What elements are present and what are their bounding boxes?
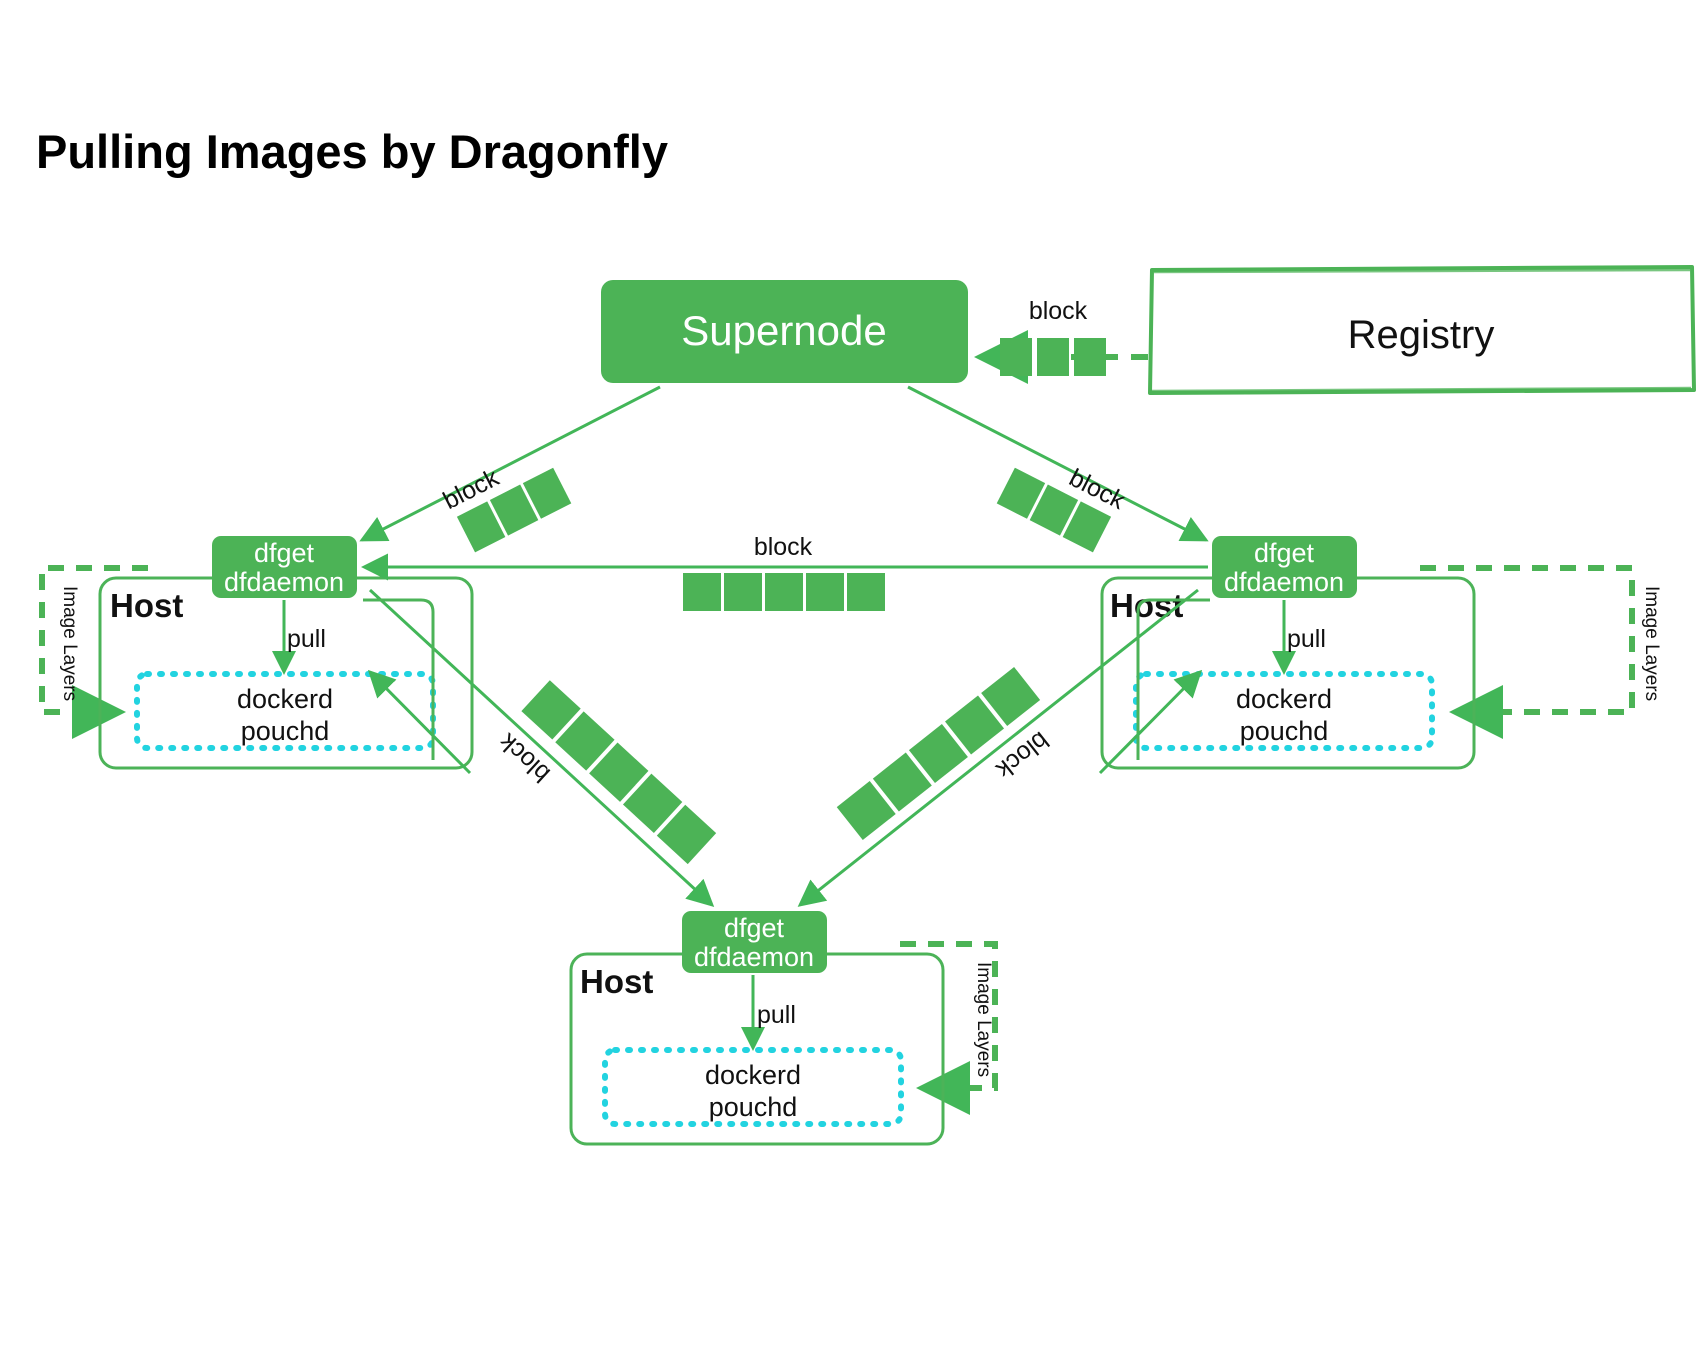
- dockerd-label-right-line1: dockerd: [1236, 684, 1332, 714]
- edge-label-block: block: [990, 726, 1054, 784]
- dockerd-label-left-line2: pouchd: [241, 716, 330, 746]
- block-square: [765, 573, 803, 611]
- block-square: [724, 573, 762, 611]
- block-square: [806, 573, 844, 611]
- edge-label-pull: pull: [287, 625, 326, 653]
- edge-pull-right: pull: [1284, 600, 1326, 672]
- dfget-label-left-line1: dfget: [254, 538, 315, 568]
- block-square: [1037, 338, 1069, 376]
- edge-line: [370, 672, 470, 773]
- host-label-left: Host: [110, 587, 183, 624]
- image-layers-right: Image Layers: [1420, 568, 1662, 712]
- image-layers-bottom: Image Layers: [900, 944, 995, 1088]
- registry-label: Registry: [1348, 313, 1495, 357]
- dockerd-label-left-line1: dockerd: [237, 684, 333, 714]
- block-square: [847, 573, 885, 611]
- image-layers-bracket: [1420, 568, 1632, 712]
- edge-line: [1100, 672, 1200, 773]
- edge-supernode-to-left-daemon: block: [362, 387, 660, 554]
- edge-bottom-to-left-daemon-arrowhead: [363, 600, 433, 760]
- edge-label-pull: pull: [1287, 625, 1326, 653]
- dfget-label-bottom-line2: dfdaemon: [694, 942, 814, 972]
- dockerd-label-bottom-line2: pouchd: [709, 1092, 798, 1122]
- dfget-label-left-line2: dfdaemon: [224, 567, 344, 597]
- edge-supernode-to-right-daemon: block: [908, 387, 1206, 555]
- host-label-bottom: Host: [580, 963, 653, 1000]
- edge-label-block: block: [1065, 464, 1130, 516]
- edge-bottom-to-right-daemon-connector: [1138, 600, 1210, 760]
- host-connector-left: [363, 600, 433, 760]
- edge-label-block: block: [493, 727, 555, 787]
- image-layers-label: Image Layers: [973, 962, 994, 1077]
- edge-pull-bottom: pull: [753, 975, 796, 1048]
- dockerd-label-bottom-line1: dockerd: [705, 1060, 801, 1090]
- image-layers-label: Image Layers: [1641, 586, 1662, 701]
- edge-registry-to-supernode: block: [980, 297, 1148, 376]
- image-layers-label: Image Layers: [59, 586, 80, 701]
- host-label-right: Host: [1110, 587, 1183, 624]
- host-connector-right: [1138, 600, 1210, 760]
- edge-label-pull: pull: [757, 1001, 796, 1029]
- dfget-label-right-line1: dfget: [1254, 538, 1315, 568]
- edge-label-block: block: [1029, 297, 1088, 325]
- edge-right-dockerd-to-daemon: [1100, 672, 1200, 773]
- block-square: [1000, 338, 1032, 376]
- dfget-label-bottom-line1: dfget: [724, 913, 785, 943]
- block-square: [683, 573, 721, 611]
- supernode-label: Supernode: [681, 307, 887, 354]
- page-title: Pulling Images by Dragonfly: [36, 125, 668, 178]
- edge-left-dockerd-to-daemon: [370, 672, 470, 773]
- edge-pull-left: pull: [284, 600, 326, 672]
- dockerd-label-right-line2: pouchd: [1240, 716, 1329, 746]
- diagram-canvas: Pulling Images by Dragonfly Supernode Re…: [0, 0, 1708, 1356]
- block-square: [1074, 338, 1106, 376]
- dfget-label-right-line2: dfdaemon: [1224, 567, 1344, 597]
- edge-label-block: block: [754, 533, 813, 561]
